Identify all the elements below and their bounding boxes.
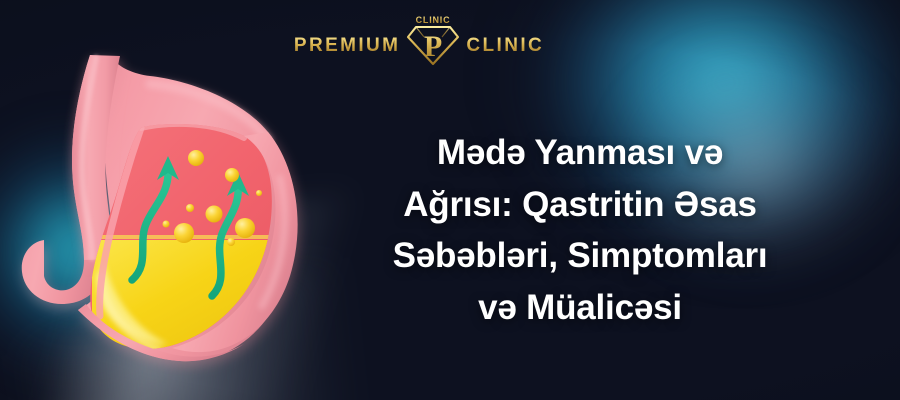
acid-bubble	[256, 190, 262, 196]
acid-bubble	[186, 204, 194, 212]
title-line-3: Səbəbləri, Simptomları	[330, 230, 830, 281]
acid-bubble	[174, 223, 194, 243]
svg-text:CLINIC: CLINIC	[416, 15, 451, 25]
acid-bubble	[225, 168, 239, 182]
acid-bubble	[206, 206, 223, 223]
acid-bubble	[188, 150, 204, 166]
acid-bubble	[163, 221, 170, 228]
title-line-1: Mədə Yanması və	[330, 127, 830, 178]
logo-word-premium: PREMIUM	[294, 36, 401, 55]
svg-text:P: P	[424, 30, 442, 63]
title-line-2: Ağrısı: Qastritin Əsas	[330, 179, 830, 230]
acid-bubble	[235, 218, 255, 238]
banner-image: PREMIUM CLINIC P	[0, 0, 900, 400]
title-line-4: və Müalicəsi	[330, 282, 830, 333]
diamond-p-icon: CLINIC P	[402, 11, 464, 67]
stomach-cross-section-illustration	[0, 28, 320, 400]
acid-bubble	[227, 238, 235, 246]
logo-word-clinic: CLINIC	[466, 36, 544, 55]
page-title: Mədə Yanması və Ağrısı: Qastritin Əsas S…	[330, 127, 830, 333]
premium-clinic-logo[interactable]: PREMIUM CLINIC P	[308, 10, 530, 68]
